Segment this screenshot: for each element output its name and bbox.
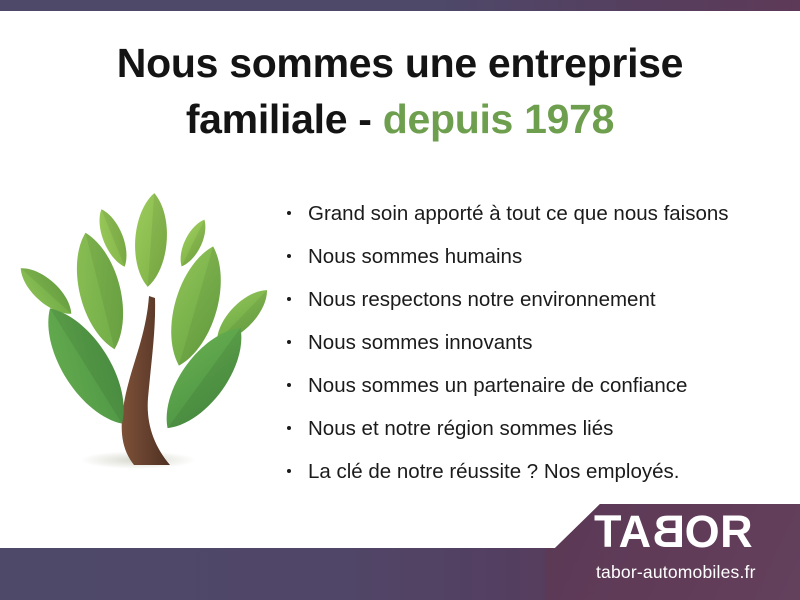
bullet-dot-icon <box>287 254 291 258</box>
list-item-label: Grand soin apporté à tout ce que nous fa… <box>308 202 729 225</box>
list-item: Nous respectons notre environnement <box>286 278 766 321</box>
brand-website-url: tabor-automobiles.fr <box>596 562 796 583</box>
headline-line-1: Nous sommes une entreprise <box>117 40 683 86</box>
list-item: Grand soin apporté à tout ce que nous fa… <box>286 192 766 235</box>
tree-illustration <box>18 188 270 488</box>
list-item-label: Nous sommes innovants <box>308 331 532 354</box>
tree-icon <box>18 188 270 488</box>
logo-letters-ta: TA <box>594 509 652 554</box>
bullet-dot-icon <box>287 383 291 387</box>
page-title: Nous sommes une entreprise familiale - d… <box>60 36 740 148</box>
list-item: Nous sommes innovants <box>286 321 766 364</box>
value-list: Grand soin apporté à tout ce que nous fa… <box>286 192 766 493</box>
bullet-dot-icon <box>287 340 291 344</box>
list-item-label: Nous sommes un partenaire de confiance <box>308 374 687 397</box>
bullet-dot-icon <box>287 297 291 301</box>
list-item-label: La clé de notre réussite ? Nos employés. <box>308 460 679 483</box>
bullet-dot-icon <box>287 469 291 473</box>
tree-trunk <box>122 296 170 465</box>
list-item-label: Nous sommes humains <box>308 245 522 268</box>
list-item: Nous sommes un partenaire de confiance <box>286 364 766 407</box>
list-item-label: Nous respectons notre environnement <box>308 288 656 311</box>
headline-line-2-accent: depuis 1978 <box>383 96 614 142</box>
list-item: La clé de notre réussite ? Nos employés. <box>286 450 766 493</box>
headline-line-2-plain: familiale - <box>186 96 372 142</box>
bullet-dot-icon <box>287 211 291 215</box>
slide-canvas: Nous sommes une entreprise familiale - d… <box>0 0 800 600</box>
top-accent-bar <box>0 0 800 11</box>
bullet-dot-icon <box>287 426 291 430</box>
brand-logo: TABOR <box>594 508 794 554</box>
logo-letter-b: B <box>652 509 685 554</box>
list-item: Nous sommes humains <box>286 235 766 278</box>
logo-letters-or: OR <box>685 509 754 554</box>
list-item: Nous et notre région sommes liés <box>286 407 766 450</box>
list-item-label: Nous et notre région sommes liés <box>308 417 613 440</box>
